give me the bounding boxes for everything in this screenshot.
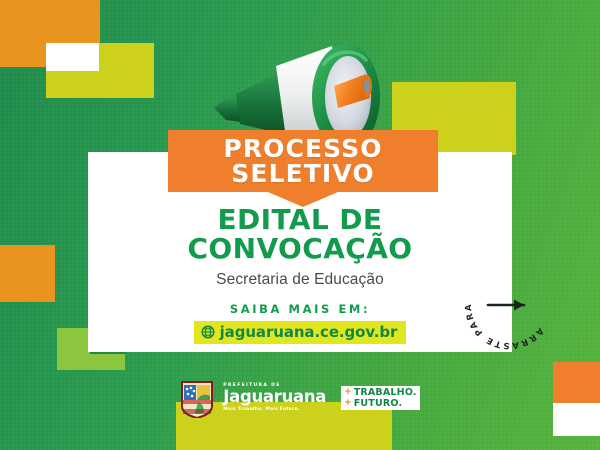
plus-icon-1: + <box>344 388 352 397</box>
bg-block-top-left-white <box>46 43 99 71</box>
website-url: jaguaruana.ce.gov.br <box>220 323 398 341</box>
subheading: Secretaria de Educação <box>88 271 512 289</box>
program-row-1: + TRABALHO. <box>344 388 417 398</box>
headline-line-2: CONVOCAÇÃO <box>88 235 512 264</box>
swipe-badge-text: ARRASTE PARA O LADO E CONFIRA · <box>456 252 545 350</box>
headline-line-1: EDITAL DE <box>88 206 512 235</box>
banner-processo-seletivo: PROCESSO SELETIVO <box>168 130 438 192</box>
prefecture-tagline: Mais Trabalho. Mais Futuro. <box>223 408 326 412</box>
footer-logos: PREFEITURA DE Jaguaruana Mais Trabalho. … <box>0 374 600 422</box>
prefecture-block: PREFEITURA DE Jaguaruana Mais Trabalho. … <box>223 384 326 413</box>
globe-icon <box>201 325 215 339</box>
swipe-badge: ARRASTE PARA O LADO E CONFIRA · <box>456 252 562 358</box>
card-text-block: EDITAL DE CONVOCAÇÃO Secretaria de Educa… <box>88 206 512 344</box>
poster-canvas: PROCESSO SELETIVO EDITAL DE CONVOCAÇÃO S… <box>0 0 600 450</box>
plus-icon-2: + <box>344 399 352 408</box>
banner-line-1: PROCESSO <box>223 136 382 162</box>
arrow-right-icon <box>488 300 524 311</box>
program-logo: + TRABALHO. + FUTURO. <box>341 386 420 410</box>
coat-of-arms-icon <box>180 378 214 418</box>
program-row-2: + FUTURO. <box>344 399 417 409</box>
banner-line-2: SELETIVO <box>231 161 374 187</box>
svg-text:ARRASTE PARA O LADO E CONFIRA: ARRASTE PARA O LADO E CONFIRA · <box>456 252 545 350</box>
call-to-action: SAIBA MAIS EM: <box>88 302 512 316</box>
program-word-2: FUTURO. <box>354 399 403 409</box>
website-link[interactable]: jaguaruana.ce.gov.br <box>194 321 407 344</box>
prefecture-name: Jaguaruana <box>223 389 326 406</box>
program-word-1: TRABALHO. <box>354 388 417 398</box>
bg-block-left-orange <box>0 245 55 302</box>
